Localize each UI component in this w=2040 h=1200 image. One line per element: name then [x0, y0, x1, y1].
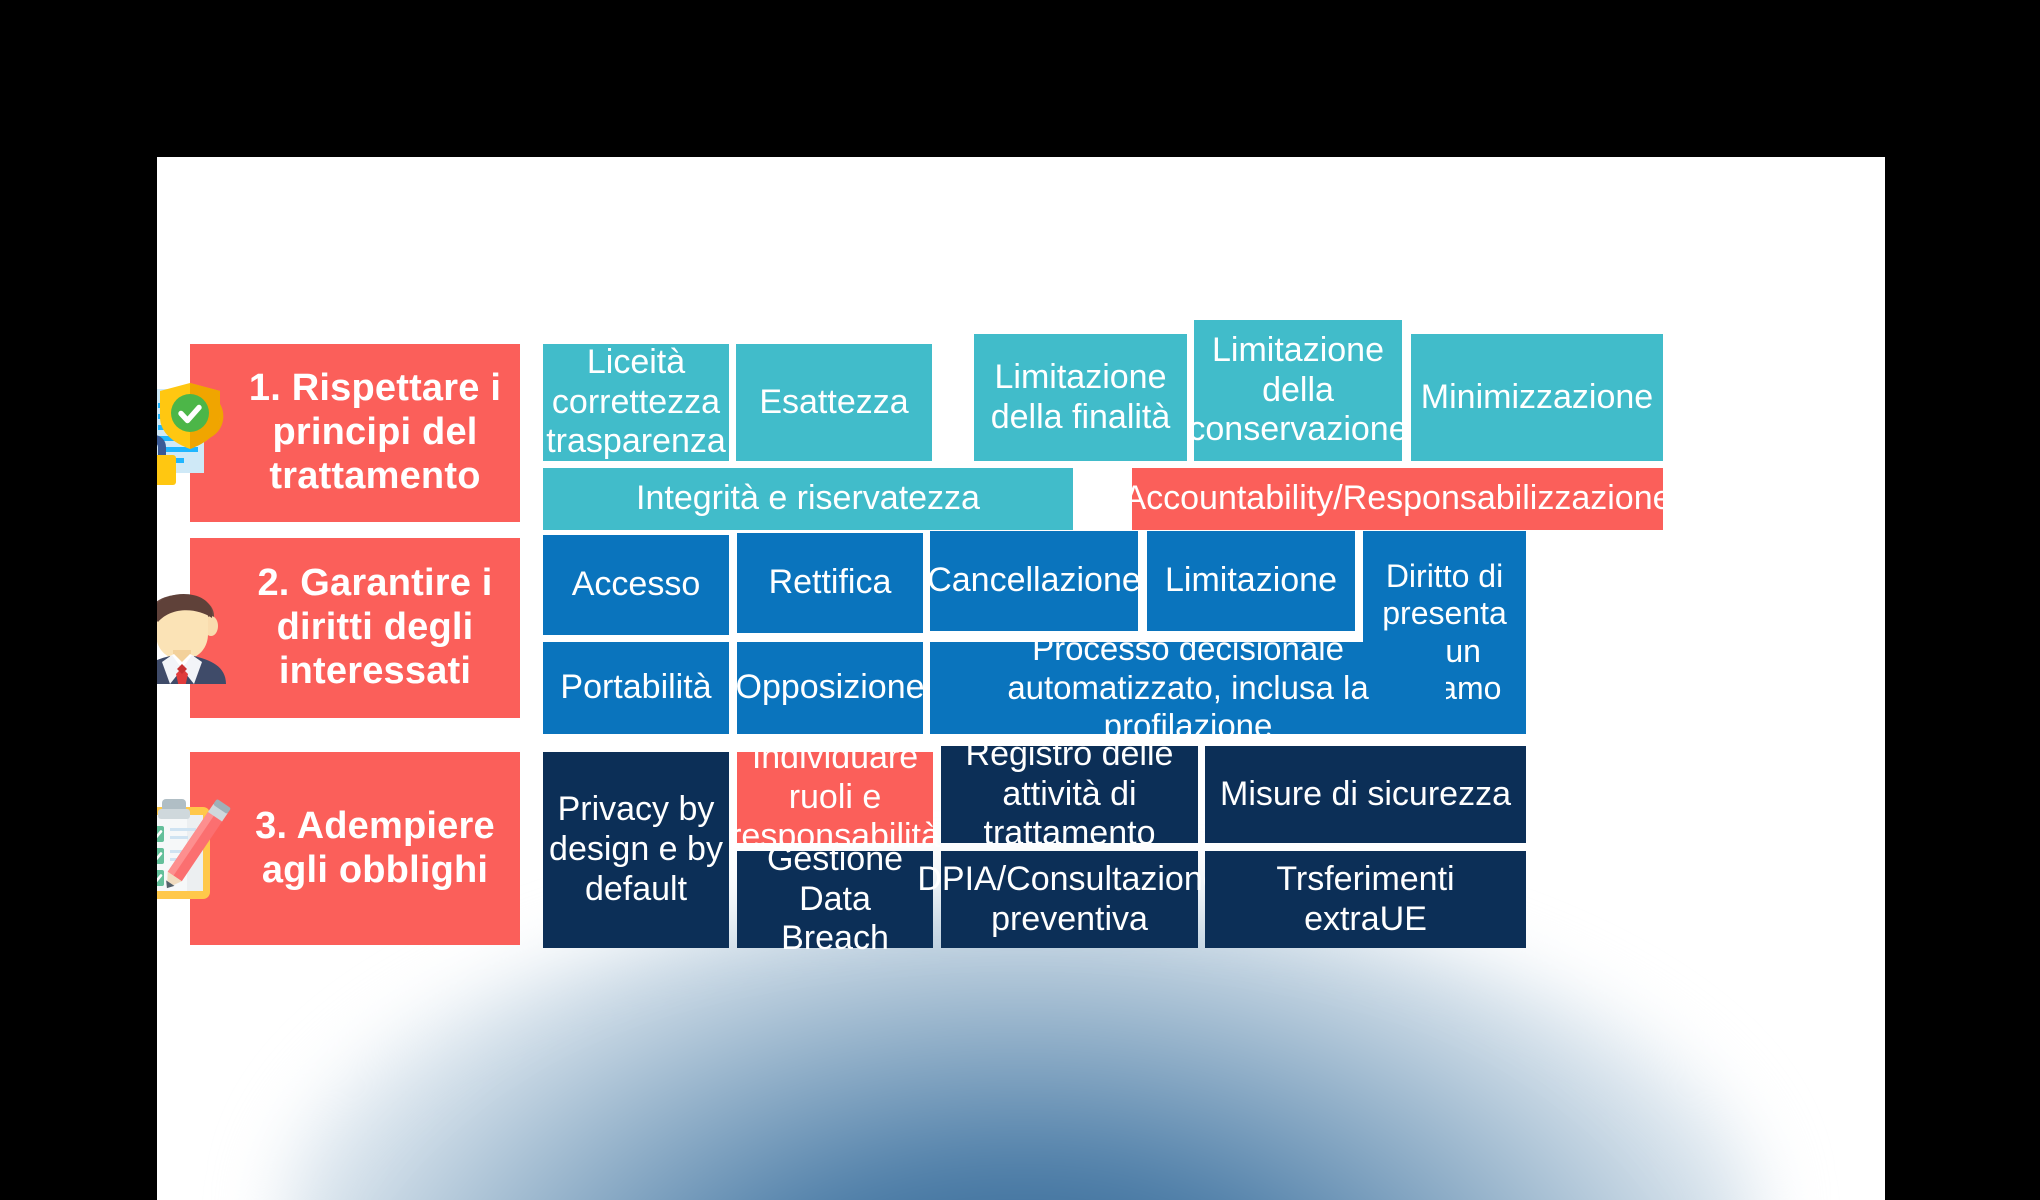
cell-rettifica[interactable]: Rettifica [737, 533, 923, 633]
cell-opposizione[interactable]: Opposizione [737, 642, 923, 734]
cell-cancellazione[interactable]: Cancellazione [930, 531, 1138, 631]
category-card-2[interactable]: 2. Garantire i diritti degli interessati [190, 538, 520, 718]
cell-dpia-consultazione-preventiva[interactable]: DPIA/Consultazione preventiva [941, 851, 1198, 948]
screenshot-canvas: 1. Rispettare i principi del trattamento… [0, 0, 2040, 1200]
cell-accesso[interactable]: Accesso [543, 535, 729, 635]
cell-portabilita[interactable]: Portabilità [543, 642, 729, 734]
cell-gestione-data-breach[interactable]: Gestione Data Breach [737, 851, 933, 948]
slide-panel: 1. Rispettare i principi del trattamento… [157, 157, 1885, 1200]
cell-registro-delle-attivita-di-trattamento[interactable]: Registro delle attività di trattamento [941, 746, 1198, 843]
person-suit-avatar-icon [157, 572, 236, 684]
cell-esattezza[interactable]: Esattezza [736, 344, 932, 461]
cell-integrita-e-riservatezza[interactable]: Integrità e riservatezza [543, 468, 1073, 530]
category-card-3[interactable]: 3. Adempiere agli obblighi [190, 752, 520, 945]
cell-limitazione-della-finalita[interactable]: Limitazione della finalità [974, 334, 1187, 461]
cell-individuare-ruoli-e-responsabilita[interactable]: Individuare ruoli e responsabilità [737, 752, 933, 843]
cell-minimizzazione[interactable]: Minimizzazione [1411, 334, 1663, 461]
cell-limitazione[interactable]: Limitazione [1147, 531, 1355, 631]
document-shield-lock-icon [157, 377, 236, 489]
category-card-1[interactable]: 1. Rispettare i principi del trattamento [190, 344, 520, 522]
category-label-1: 1. Rispettare i principi del trattamento [190, 367, 520, 498]
cell-processo-decisionale-automatizzato[interactable]: Processo decisionale automatizzato, incl… [930, 642, 1446, 734]
cell-accountability-responsabilizzazione[interactable]: Accountability/Responsabilizzazione [1132, 468, 1663, 530]
cell-trsferimenti-extraue[interactable]: Trsferimenti extraUE [1205, 851, 1526, 948]
category-label-3: 3. Adempiere agli obblighi [190, 805, 520, 892]
clipboard-checklist-pencil-icon [157, 793, 236, 905]
cell-liceita-correttezza-trasparenza[interactable]: Liceità correttezza trasparenza [543, 344, 729, 461]
category-label-2: 2. Garantire i diritti degli interessati [190, 562, 520, 693]
cell-misure-di-sicurezza[interactable]: Misure di sicurezza [1205, 746, 1526, 843]
gdpr-compliance-diagram: 1. Rispettare i principi del trattamento… [157, 157, 1885, 1200]
cell-limitazione-della-conservazione[interactable]: Limitazione della conservazione [1194, 320, 1402, 461]
cell-privacy-by-design-by-default[interactable]: Privacy by design e by default [543, 752, 729, 948]
